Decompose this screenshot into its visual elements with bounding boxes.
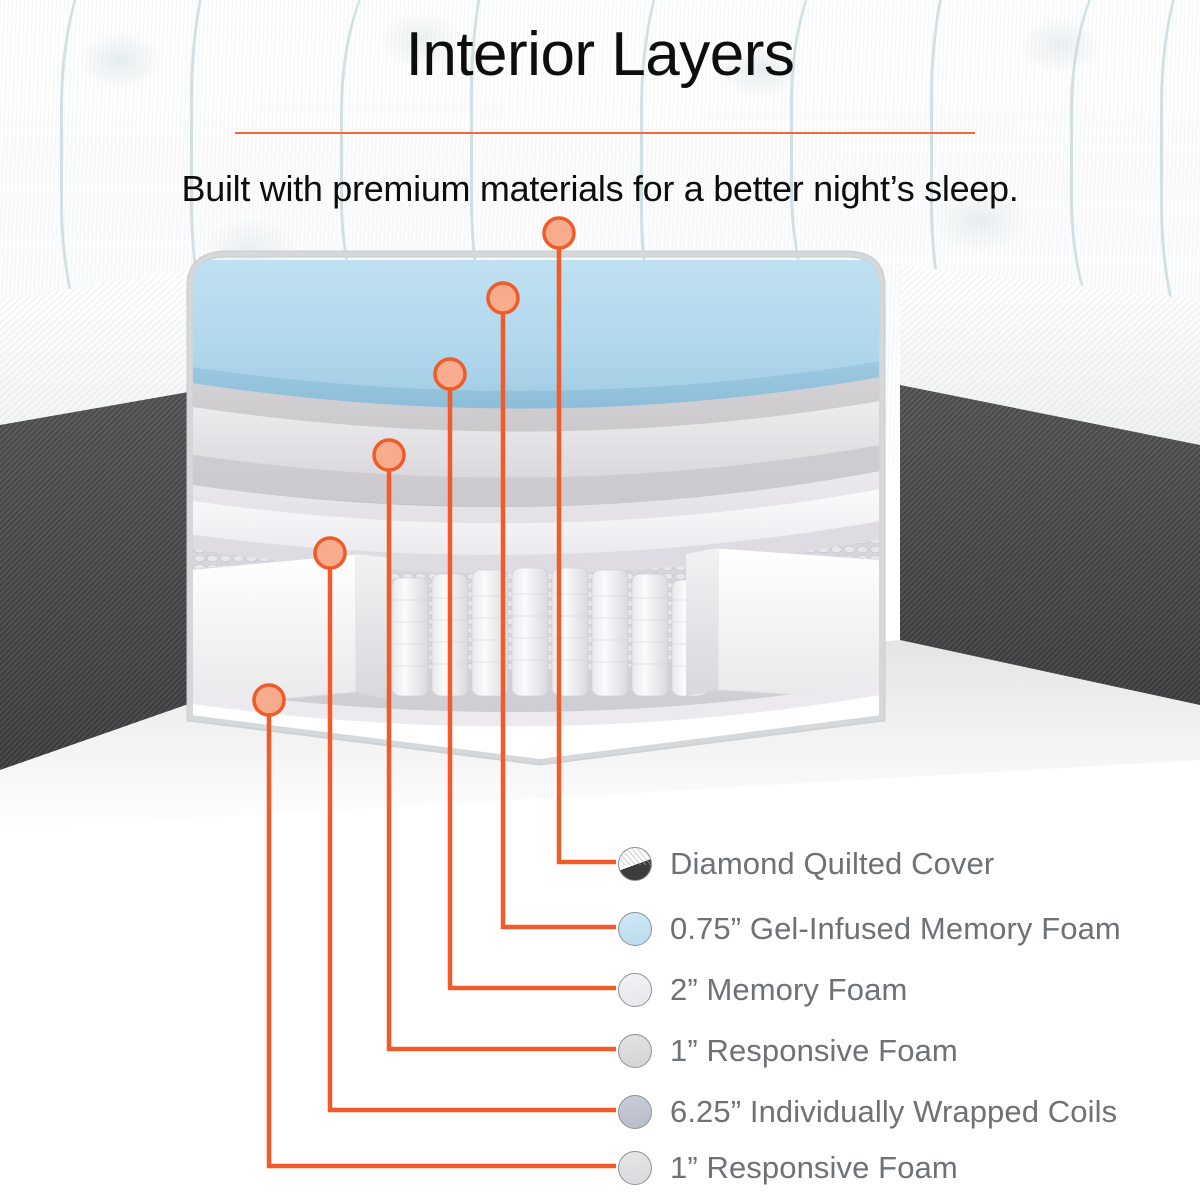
legend-label-individually-wrapped-coils: 6.25” Individually Wrapped Coils [670, 1094, 1117, 1130]
cutaway-layers-group [186, 260, 886, 768]
swatch-gel-infused-memory-foam-icon [618, 912, 652, 946]
legend-item-memory-foam[interactable]: 2” Memory Foam [618, 966, 907, 1014]
legend-label-memory-foam: 2” Memory Foam [670, 972, 907, 1008]
legend-label-diamond-quilted-cover: Diamond Quilted Cover [670, 846, 994, 882]
legend-item-individually-wrapped-coils[interactable]: 6.25” Individually Wrapped Coils [618, 1088, 1117, 1136]
edge-support-rail-left-side [356, 554, 390, 700]
page-subtitle: Built with premium materials for a bette… [0, 168, 1200, 210]
infographic-canvas: Interior Layers Built with premium mater… [0, 0, 1200, 1200]
swatch-individually-wrapped-coils-icon [618, 1095, 652, 1129]
swatch-memory-foam-icon [618, 973, 652, 1007]
page-title: Interior Layers [0, 22, 1200, 87]
swatch-responsive-foam-upper-icon [618, 1034, 652, 1068]
edge-support-rail-right [718, 548, 886, 700]
legend-label-responsive-foam-upper: 1” Responsive Foam [670, 1033, 958, 1069]
legend-item-gel-infused-memory-foam[interactable]: 0.75” Gel-Infused Memory Foam [618, 905, 1121, 953]
legend-item-responsive-foam-upper[interactable]: 1” Responsive Foam [618, 1027, 958, 1075]
legend-item-responsive-foam-lower[interactable]: 1” Responsive Foam [618, 1144, 958, 1192]
swatch-diamond-quilted-cover-icon [618, 847, 652, 881]
layer-gel-foam-face [186, 260, 886, 391]
edge-support-rail-right-side [686, 548, 718, 696]
title-divider-rule [235, 132, 975, 134]
legend-item-diamond-quilted-cover[interactable]: Diamond Quilted Cover [618, 840, 994, 888]
legend-label-responsive-foam-lower: 1” Responsive Foam [670, 1150, 958, 1186]
edge-support-rail-left [186, 554, 356, 708]
legend-label-gel-infused-memory-foam: 0.75” Gel-Infused Memory Foam [670, 911, 1121, 947]
swatch-responsive-foam-lower-icon [618, 1151, 652, 1185]
mattress-cutaway-illustration [180, 248, 910, 768]
